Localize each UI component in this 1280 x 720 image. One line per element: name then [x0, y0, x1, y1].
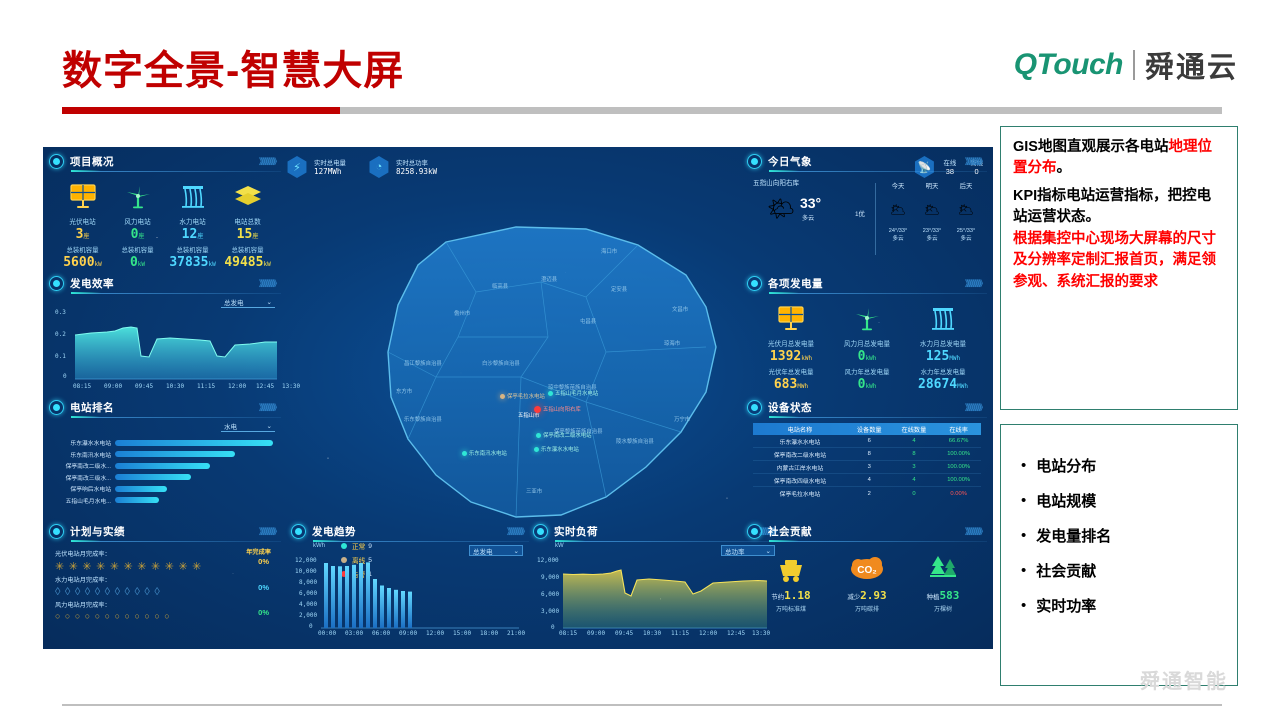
svg-text:CO₂: CO₂ [857, 565, 876, 576]
overview-items: 光伏电站 3座 总装机容量 5600kW 风力电站 0座 总装机容量 0kW 水… [55, 179, 275, 270]
panel-orb-icon [747, 276, 762, 291]
title-divider-accent [62, 107, 340, 114]
map-label: 昌江黎族自治县 [404, 359, 442, 367]
plan-row-label: 风力电站月完成率： [55, 600, 275, 609]
panel-underline [769, 540, 799, 542]
select-value: 水电 [224, 421, 237, 431]
callout-notes: GIS地图直观展示各电站地理位置分布。 KPI指标电站运营指标，把控电站运营状态… [1000, 126, 1238, 410]
cell-online: 8 [892, 451, 937, 457]
select-value: 总发电 [473, 546, 493, 556]
panel-orb-icon [747, 400, 762, 415]
panel-orb-icon [49, 524, 64, 539]
column-header-name: 电站名称 [753, 425, 847, 434]
cell-rate: 66.67% [936, 438, 981, 444]
overview-item-label: 水力电站 [165, 216, 220, 226]
total-energy-value: 127MWh [314, 167, 346, 176]
generation-year-unit: MWh [957, 383, 968, 390]
total-power-label: 实时总功率 [396, 158, 437, 167]
overview-item-label: 电站总数 [220, 216, 275, 226]
overview-capacity-value: 49485 [224, 255, 263, 270]
overview-item-unit: 座 [83, 233, 89, 240]
panel-underline [555, 540, 585, 542]
cell-online: 3 [892, 464, 937, 470]
chevrons-decor-icon: 》》》》》》》》 [259, 526, 279, 537]
panel-title: 电站排名 [70, 400, 114, 415]
panel-rule [71, 417, 281, 418]
panel-orb-icon [747, 524, 762, 539]
logo-text-en: QTouch [1014, 48, 1123, 82]
cell-station-name: 乐东瀑水水电站 [753, 437, 847, 446]
panel-orb-icon [291, 524, 306, 539]
total-energy-label: 实时总电量 [314, 158, 346, 167]
chevrons-decor-icon: 》》》》》》》》 [965, 278, 985, 289]
overview-item: 光伏电站 3座 总装机容量 5600kW [55, 179, 110, 270]
select-value: 总发电 [224, 297, 244, 307]
cell-total: 6 [847, 438, 892, 444]
overview-item-unit: 座 [197, 233, 203, 240]
load-area-svg [563, 558, 767, 630]
table-row[interactable]: 保亭南改四级水电站 4 4 100.00% [753, 474, 981, 487]
plan-row-percent: 0% [258, 608, 269, 617]
hydro-dam-icon [905, 301, 981, 335]
bullet-item: •社会贡献 [1013, 560, 1225, 581]
social-item: CO₂ 减少2.93 万吨碳排 [829, 553, 905, 613]
social-value: 583 [939, 589, 959, 602]
bullet-label: 电站分布 [1036, 455, 1096, 476]
footer-divider [62, 704, 1222, 706]
load-chart: 12,000 9,000 6,000 3,000 0 08:15 09:00 0… [537, 557, 777, 641]
total-energy-block: 实时总电量 127MWh [314, 158, 346, 176]
panel-generation-totals: 各项发电量 》》》》》》》》 光伏月总发电量 1392kWh 光伏年总发电量 6… [747, 275, 987, 393]
forecast-desc: 多云 [881, 234, 915, 242]
panel-rule [769, 417, 987, 418]
panel-title: 各项发电量 [768, 276, 823, 291]
panel-social-contribution: 社会贡献 》》》》》》》》 节约1.18 万吨标准煤 CO₂ 减少2.93 万吨… [747, 523, 987, 645]
panel-underline [769, 416, 799, 418]
trend-bars-svg [321, 558, 519, 630]
generation-year-unit: kWh [865, 383, 876, 390]
map-station-marker[interactable]: 五指山向阳右库 [534, 405, 581, 413]
social-unit: 万棵树 [905, 604, 981, 613]
cell-online: 0 [892, 491, 937, 497]
panel-header: 今日气象 》》》》》》》》 [747, 153, 987, 169]
cell-total: 4 [847, 477, 892, 483]
map-station-marker[interactable]: 乐东南汛水电站 [462, 449, 507, 457]
column-header-online: 在线数量 [892, 425, 937, 434]
social-label: 节约 [771, 594, 784, 601]
weather-aqi: 1优 [855, 209, 865, 218]
bullet-dot-icon: • [1021, 598, 1026, 613]
map-label: 万宁市 [674, 415, 690, 423]
map-label: 琼海市 [664, 339, 680, 347]
overview-capacity-value: 0 [130, 255, 138, 270]
panel-plan-vs-actual: 计划与实绩 》》》》》》》》 年完成率 光伏电站月完成率： ✳✳✳✳✳✳✳✳✳✳… [49, 523, 281, 645]
chevrons-decor-icon: 》》》》》》》》 [965, 156, 985, 167]
cell-total: 3 [847, 464, 892, 470]
map-label: 乐东黎族自治县 [404, 415, 442, 423]
overview-item: 电站总数 15座 总装机容量 49485kW [220, 179, 275, 270]
overview-capacity-unit: kW [263, 261, 270, 268]
panel-underline [71, 540, 101, 542]
panel-weather: 今日气象 》》》》》》》》 五指山向阳右库 🌤 33° 多云 1优 今天 🌥 2… [747, 153, 987, 268]
bullet-item: •发电量排名 [1013, 525, 1225, 546]
bullet-label: 实时功率 [1036, 595, 1096, 616]
total-power-block: 实时总功率 8258.93kW [396, 158, 437, 176]
panel-header: 发电效率 》》》》》》》》 [49, 275, 281, 291]
overview-item-count: 15 [237, 227, 253, 242]
overview-item-unit: 座 [138, 233, 144, 240]
sun-icon-group: ✳✳✳✳✳✳✳✳✳✳✳ [55, 560, 275, 573]
map-label: 白沙黎族自治县 [482, 359, 520, 367]
map-label: 海口市 [601, 247, 617, 255]
panel-realtime-load: 实时负荷 》》》》》》》》 kW 总功率 ⌄ 12,000 9,000 6,00… [533, 523, 781, 645]
map-station-marker[interactable]: 五指山毛月水电站 [548, 389, 598, 397]
panel-underline [71, 170, 101, 172]
overview-capacity-label: 总装机容量 [220, 245, 275, 254]
plan-row-percent: 0% [258, 557, 269, 566]
panel-header: 社会贡献 》》》》》》》》 [747, 523, 987, 539]
bullet-label: 发电量排名 [1036, 525, 1111, 546]
cell-rate: 100.00% [936, 477, 981, 483]
cell-station-name: 保亭毛拉水电站 [753, 489, 847, 498]
cloudy-icon: 🌥 [949, 202, 983, 218]
map-label: 陵水黎族自治县 [616, 437, 654, 445]
trend-chart: 12,000 10,000 8,000 6,000 4,000 2,000 0 [295, 557, 525, 641]
map-label: 儋州市 [454, 309, 470, 317]
bullet-item: •实时功率 [1013, 595, 1225, 616]
weather-current: 🌤 33° 多云 [767, 195, 821, 222]
overview-capacity-label: 总装机容量 [110, 245, 165, 254]
weather-city: 五指山向阳右库 [753, 177, 799, 187]
panel-underline [769, 292, 799, 294]
weather-divider [875, 183, 876, 255]
sun-cloud-icon: 🌤 [767, 196, 795, 222]
map-label: 东方市 [396, 387, 412, 395]
table-row[interactable]: 保亭南改二级水电站 8 8 100.00% [753, 448, 981, 461]
panel-underline [769, 170, 799, 172]
generation-year-value: 683 [774, 377, 797, 392]
overview-capacity-label: 总装机容量 [165, 245, 220, 254]
social-unit: 万吨碳排 [829, 604, 905, 613]
social-item: 节约1.18 万吨标准煤 [753, 553, 829, 613]
coal-cart-icon [753, 553, 829, 585]
panel-title: 发电效率 [70, 276, 114, 291]
panel-header: 各项发电量 》》》》》》》》 [747, 275, 987, 291]
bullet-dot-icon: • [1021, 528, 1026, 543]
panel-orb-icon [747, 154, 762, 169]
load-unit: kW [555, 543, 564, 549]
logo-separator [1133, 50, 1135, 80]
solar-panel-icon [753, 301, 829, 335]
layers-icon [220, 179, 275, 213]
dashboard-screenshot: ⚡ 实时总电量 127MWh ◔ 实时总功率 8258.93kW 📡 在线 38… [43, 147, 993, 649]
bullet-label: 社会贡献 [1036, 560, 1096, 581]
select-value: 总功率 [725, 546, 745, 556]
ranking-row: 五指山毛月水电... [53, 495, 273, 507]
device-status-table: 电站名称 设备数量 在线数量 在线率 乐东瀑水水电站 6 4 66.67% 保亭… [753, 423, 981, 500]
overview-item: 水力电站 12座 总装机容量 37835kW [165, 179, 220, 270]
forecast-day-name: 今天 [881, 181, 915, 190]
ranking-type-select[interactable]: 水电 ⌄ [221, 421, 275, 432]
ranking-row: 乐东南汛水电站 [53, 449, 273, 461]
panel-rule [769, 171, 987, 172]
note-line-2: KPI指标电站运营指标，把控电站运营状态。 [1013, 186, 1225, 229]
generation-month-unit: kWh [865, 355, 876, 362]
chevron-down-icon: ⌄ [267, 422, 272, 430]
cell-online: 4 [892, 438, 937, 444]
cell-total: 8 [847, 451, 892, 457]
panel-title: 社会贡献 [768, 524, 812, 539]
bolt-icon: ⚡ [286, 156, 308, 178]
hydro-dam-icon [165, 179, 220, 213]
bullet-item: •电站分布 [1013, 455, 1225, 476]
generation-month-label: 光伏月总发电量 [753, 338, 829, 348]
weather-temp: 33° [800, 195, 821, 211]
generation-month-unit: MWh [949, 355, 960, 362]
panel-orb-icon [49, 154, 64, 169]
efficiency-area-svg [75, 311, 277, 383]
panel-orb-icon [533, 524, 548, 539]
generation-item: 光伏月总发电量 1392kWh 光伏年总发电量 683MWh [753, 301, 829, 392]
chevrons-decor-icon: 》》》》》》》》 [965, 526, 985, 537]
overview-item-label: 光伏电站 [55, 216, 110, 226]
cell-station-name: 内蒙古江岸水电站 [753, 463, 847, 472]
panel-device-status: 设备状态 》》》》》》》》 电站名称 设备数量 在线数量 在线率 乐东瀑水水电站… [747, 399, 987, 517]
ranking-row: 保亭南改二级水... [53, 460, 273, 472]
ranking-label: 五指山毛月水电... [53, 496, 115, 505]
total-power-value: 8258.93kW [396, 167, 437, 176]
overview-item-count: 12 [182, 227, 198, 242]
panel-title: 实时负荷 [554, 524, 598, 539]
panel-generation-efficiency: 发电效率 》》》》》》》》 总发电 ⌄ 0.3 0.2 0.1 0 08:15 … [49, 275, 281, 393]
panel-rule [769, 541, 987, 542]
panel-header: 设备状态 》》》》》》》》 [747, 399, 987, 415]
map-station-marker[interactable]: 保亭毛拉水电站 [500, 392, 545, 400]
cell-rate: 100.00% [936, 464, 981, 470]
social-label: 减少 [847, 594, 860, 601]
column-header-total: 设备数量 [847, 425, 892, 434]
generation-month-unit: kWh [801, 355, 812, 362]
forecast-day: 今天 🌥 24°/33° 多云 [881, 181, 915, 242]
ranking-row: 乐东瀑水水电站 [53, 437, 273, 449]
generation-year-label: 风力年总发电量 [829, 367, 905, 376]
panel-generation-trend: 发电趋势 》》》》》》》》 kWh 总发电 ⌄ 12,000 10,000 8,… [291, 523, 529, 645]
chevron-down-icon: ⌄ [267, 298, 272, 306]
generation-year-label: 光伏年总发电量 [753, 367, 829, 376]
co2-cloud-icon: CO₂ [829, 553, 905, 585]
panel-title: 计划与实绩 [70, 524, 125, 539]
social-items: 节约1.18 万吨标准煤 CO₂ 减少2.93 万吨碳排 种植583 万棵树 [753, 553, 981, 613]
ranking-label: 乐东南汛水电站 [53, 450, 115, 459]
panel-title: 今日气象 [768, 154, 812, 169]
plan-row: 风力电站月完成率： ○○○○○○○○○○○○ 0% [55, 600, 275, 621]
overview-capacity-unit: kW [138, 261, 145, 268]
map-label: 屯昌县 [580, 317, 596, 325]
gauge-icon: ◔ [368, 156, 390, 178]
generation-month-label: 水力月总发电量 [905, 338, 981, 348]
social-label: 种植 [927, 594, 940, 601]
table-row[interactable]: 保亭毛拉水电站 2 0 0.00% [753, 487, 981, 500]
bullet-item: •电站规模 [1013, 490, 1225, 511]
generation-year-unit: MWh [797, 383, 808, 390]
trend-unit: kWh [313, 543, 325, 549]
wind-turbine-icon [829, 301, 905, 335]
forecast-desc: 多云 [915, 234, 949, 242]
page-title: 数字全景-智慧大屏 [62, 38, 404, 96]
logo-text-cn: 舜通云 [1145, 44, 1238, 86]
table-header-row: 电站名称 设备数量 在线数量 在线率 [753, 423, 981, 435]
panel-header: 实时负荷 》》》》》》》》 [533, 523, 781, 539]
cell-station-name: 保亭南改二级水电站 [753, 450, 847, 459]
overview-item: 风力电站 0座 总装机容量 0kW [110, 179, 165, 270]
callout-bullets: •电站分布 •电站规模 •发电量排名 •社会贡献 •实时功率 [1000, 424, 1238, 686]
generation-year-label: 水力年总发电量 [905, 367, 981, 376]
panel-underline [71, 292, 101, 294]
forecast-day-name: 明天 [915, 181, 949, 190]
ranking-row: 保亭南改三级水... [53, 472, 273, 484]
social-item: 种植583 万棵树 [905, 553, 981, 613]
overview-item-unit: 座 [252, 233, 258, 240]
plan-row: 光伏电站月完成率： ✳✳✳✳✳✳✳✳✳✳✳ 0% [55, 549, 275, 573]
brand-logo: QTouch 舜通云 [1014, 44, 1238, 86]
ranking-label: 保亭南改二级水... [53, 461, 115, 470]
panel-orb-icon [49, 400, 64, 415]
overview-item-label: 风力电站 [110, 216, 165, 226]
bullet-dot-icon: • [1021, 493, 1026, 508]
overview-capacity-unit: kW [208, 261, 215, 268]
note-line-1: GIS地图直观展示各电站地理位置分布。 [1013, 137, 1225, 180]
panel-orb-icon [49, 276, 64, 291]
watermark: 舜通智能 [1140, 665, 1228, 694]
bullet-label: 电站规模 [1036, 490, 1096, 511]
overview-capacity-unit: kW [95, 261, 102, 268]
ranking-label: 保亭响后水电站 [53, 484, 115, 493]
table-row[interactable]: 乐东瀑水水电站 6 4 66.67% [753, 435, 981, 448]
weather-desc: 多云 [795, 213, 821, 222]
ranking-label: 保亭南改三级水... [53, 473, 115, 482]
generation-items: 光伏月总发电量 1392kWh 光伏年总发电量 683MWh 风力月总发电量 0… [753, 301, 981, 392]
panel-title: 设备状态 [768, 400, 812, 415]
chevron-down-icon: ⌄ [514, 547, 519, 555]
ranking-row: 保亭响后水电站 [53, 483, 273, 495]
bullet-dot-icon: • [1021, 563, 1026, 578]
bullet-dot-icon: • [1021, 458, 1026, 473]
forecast-desc: 多云 [949, 234, 983, 242]
cell-rate: 100.00% [936, 451, 981, 457]
panel-header: 项目概况 》》》》》》》》 [49, 153, 281, 169]
plan-row: 水力电站月完成率： ◊◊◊◊◊◊◊◊◊◊◊ 0% [55, 575, 275, 598]
circle-icon-group: ○○○○○○○○○○○○ [55, 611, 275, 621]
chevrons-decor-icon: 》》》》》》》》 [259, 402, 279, 413]
social-unit: 万吨标准煤 [753, 604, 829, 613]
overview-capacity-value: 5600 [63, 255, 94, 270]
generation-month-label: 风力月总发电量 [829, 338, 905, 348]
cloudy-icon: 🌥 [881, 202, 915, 218]
social-value: 1.18 [784, 589, 811, 602]
generation-item: 风力月总发电量 0kWh 风力年总发电量 0kWh [829, 301, 905, 392]
panel-rule [71, 541, 281, 542]
plan-row-label: 光伏电站月完成率： [55, 549, 275, 558]
chevrons-decor-icon: 》》》》》》》》 [965, 402, 985, 413]
chevrons-decor-icon: 》》》》》》》》 [259, 156, 279, 167]
cell-station-name: 保亭南改四级水电站 [753, 476, 847, 485]
panel-underline [313, 540, 343, 542]
wind-turbine-icon [110, 179, 165, 213]
cell-rate: 0.00% [936, 491, 981, 497]
panel-title: 发电趋势 [312, 524, 356, 539]
generation-year-value: 28674 [918, 377, 957, 392]
forecast-day: 后天 🌥 25°/33° 多云 [949, 181, 983, 242]
panel-project-overview: 项目概况 》》》》》》》》 光伏电站 3座 总装机容量 5600kW 风力电站 … [49, 153, 281, 268]
water-drop-icon-group: ◊◊◊◊◊◊◊◊◊◊◊ [55, 586, 275, 598]
trees-icon [905, 553, 981, 585]
generation-item: 水力月总发电量 125MWh 水力年总发电量 28674MWh [905, 301, 981, 392]
panel-header: 发电趋势 》》》》》》》》 [291, 523, 529, 539]
cell-online: 4 [892, 477, 937, 483]
plan-rows: 年完成率 光伏电站月完成率： ✳✳✳✳✳✳✳✳✳✳✳ 0% 水力电站月完成率： … [55, 547, 275, 621]
map-label: 三亚市 [526, 487, 542, 495]
solar-panel-icon [55, 179, 110, 213]
map-label: 澄迈县 [541, 275, 557, 283]
panel-station-ranking: 电站排名 》》》》》》》》 水电 ⌄ 乐东瀑水水电站 乐东南汛水电站 保亭南改二… [49, 399, 281, 517]
panel-title: 项目概况 [70, 154, 114, 169]
note-line-3: 根据集控中心现场大屏幕的尺寸及分辨率定制汇报首页，满足领参观、系统汇报的要求 [1013, 229, 1225, 293]
efficiency-type-select[interactable]: 总发电 ⌄ [221, 297, 275, 308]
cloudy-icon: 🌥 [915, 202, 949, 218]
plan-row-label: 水力电站月完成率： [55, 575, 275, 584]
map-station-marker[interactable]: 乐东瀑水水电站 [534, 445, 579, 453]
panel-header: 电站排名 》》》》》》》》 [49, 399, 281, 415]
panel-header: 计划与实绩 》》》》》》》》 [49, 523, 281, 539]
panel-rule [769, 293, 987, 294]
map-label: 定安县 [611, 285, 627, 293]
column-header-rate: 在线率 [936, 425, 981, 434]
cell-total: 2 [847, 491, 892, 497]
panel-underline [71, 416, 101, 418]
chevrons-decor-icon: 》》》》》》》》 [259, 278, 279, 289]
panel-rule [71, 293, 281, 294]
generation-month-value: 125 [926, 349, 949, 364]
forecast-day-name: 后天 [949, 181, 983, 190]
efficiency-chart: 0.3 0.2 0.1 0 08:15 09:00 09:45 10:30 11… [53, 311, 277, 389]
social-value: 2.93 [860, 589, 887, 602]
map-label: 文昌市 [672, 305, 688, 313]
overview-capacity-value: 37835 [169, 255, 208, 270]
ranking-label: 乐东瀑水水电站 [53, 438, 115, 447]
map-station-marker[interactable]: 保亭南改二级水电站 [536, 431, 592, 439]
panel-rule [71, 171, 281, 172]
table-row[interactable]: 内蒙古江岸水电站 3 3 100.00% [753, 461, 981, 474]
panel-rule [313, 541, 529, 542]
forecast-day: 明天 🌥 23°/33° 多云 [915, 181, 949, 242]
chevrons-decor-icon: 》》》》》》》》 [507, 526, 527, 537]
trend-type-select[interactable]: 总发电 ⌄ [469, 545, 523, 556]
map-label: 临高县 [492, 282, 508, 290]
weather-forecast: 今天 🌥 24°/33° 多云 明天 🌥 23°/33° 多云 后天 🌥 25°… [881, 181, 983, 242]
ranking-bars: 乐东瀑水水电站 乐东南汛水电站 保亭南改二级水... 保亭南改三级水... 保亭… [53, 437, 273, 506]
overview-capacity-label: 总装机容量 [55, 245, 110, 254]
generation-month-value: 1392 [770, 349, 801, 364]
plan-row-percent: 0% [258, 583, 269, 592]
